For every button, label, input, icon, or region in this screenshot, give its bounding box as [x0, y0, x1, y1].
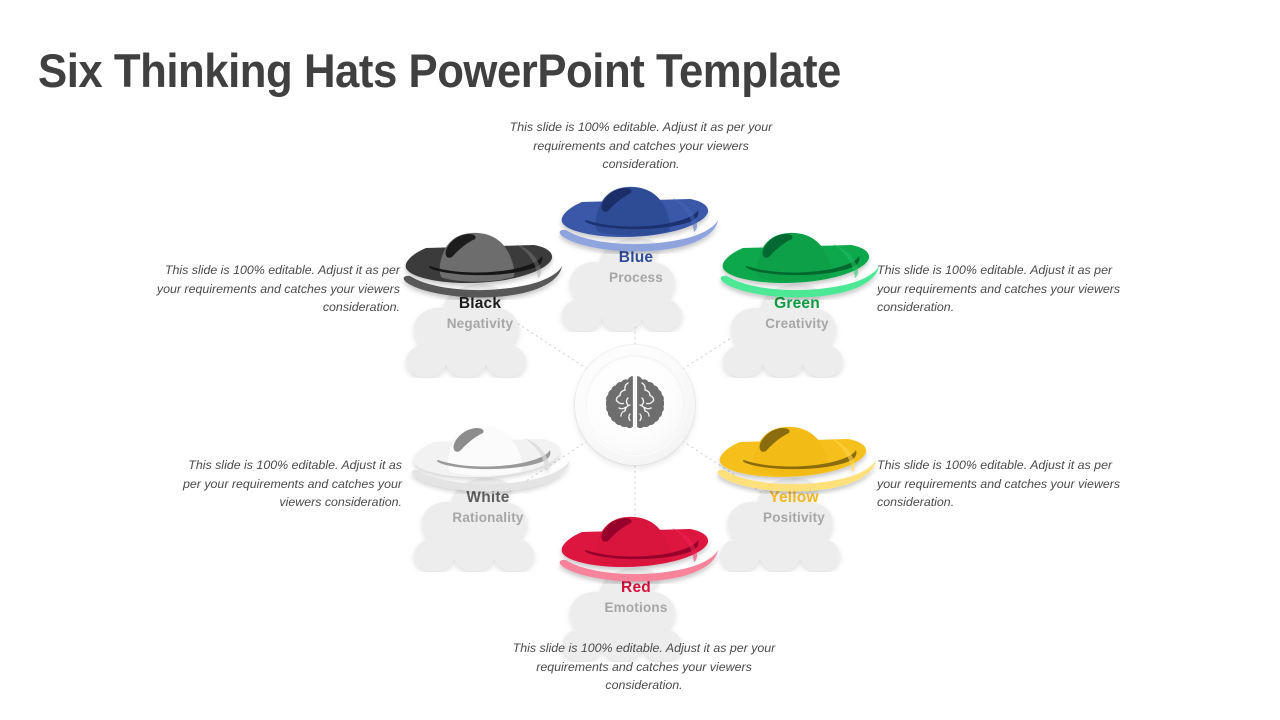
fedora-hat-white [404, 422, 576, 494]
slide-canvas: Six Thinking Hats PowerPoint Template [0, 0, 1280, 720]
center-hub[interactable] [575, 345, 695, 465]
description-left-bottom: This slide is 100% editable. Adjust it a… [170, 456, 402, 512]
fedora-hat-green [713, 228, 885, 300]
fedora-hat-black [396, 228, 568, 300]
fedora-hat-yellow [710, 422, 882, 494]
description-bottom: This slide is 100% editable. Adjust it a… [498, 639, 790, 695]
hat-node-green[interactable]: Green Creativity [699, 228, 895, 378]
fedora-hat-red [552, 512, 724, 584]
brain-icon [606, 374, 664, 434]
description-right-bottom: This slide is 100% editable. Adjust it a… [877, 456, 1127, 512]
description-top: This slide is 100% editable. Adjust it a… [495, 118, 787, 174]
description-left-top: This slide is 100% editable. Adjust it a… [138, 261, 400, 317]
hat-node-black[interactable]: Black Negativity [382, 228, 578, 378]
description-right-top: This slide is 100% editable. Adjust it a… [877, 261, 1127, 317]
